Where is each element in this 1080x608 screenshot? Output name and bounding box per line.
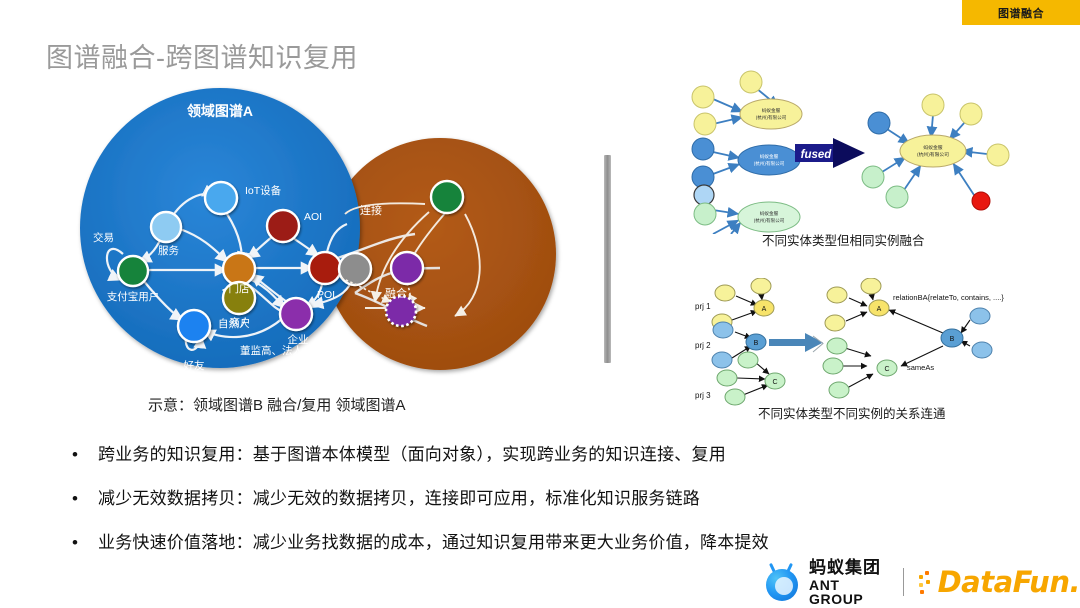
corner-badge-label: 图谱融合 (998, 5, 1044, 21)
node-service[interactable] (151, 212, 181, 242)
bullet-list: • 跨业务的知识复用：基于图谱本体模型（面向对象），实现跨业务的知识连接、复用 … (68, 442, 1028, 574)
right-bottom-svg: A B C prj 1 prj 2 prj 3 (665, 278, 1065, 406)
rt-entity-green[interactable] (738, 202, 800, 232)
right-bottom-caption: 不同实体类型不同实例的关系连通 (758, 403, 946, 422)
bullet-item-1: • 跨业务的知识复用：基于图谱本体模型（面向对象），实现跨业务的知识连接、复用 (68, 442, 1028, 467)
label-alipay-user: 支付宝用户 (107, 290, 160, 303)
bullet-marker: • (68, 442, 98, 467)
footer-logos: 蚂蚁集团 ANT GROUP DataFun. (763, 561, 1080, 603)
bullet-marker: • (68, 530, 98, 555)
node-poi[interactable] (309, 252, 341, 284)
corner-badge: 图谱融合 (962, 0, 1080, 25)
rt-yellow-line2: (杭州)有限公司 (756, 114, 787, 121)
rt-fused-arrow: fused (795, 138, 865, 168)
right-top-diagram: 蚂蚁金服 (杭州)有限公司 蚂蚁金服 (杭州)有限公司 蚂蚁金服 (杭州)有限公… (665, 62, 1065, 234)
rb-label-b: B (754, 340, 759, 347)
right-top-caption: 不同实体类型但相同实例融合 (762, 230, 925, 249)
rt-fused-label: fused (801, 149, 833, 161)
main-diagram-svg: 领域图谱A IoT设备 服务 AOI 门店 POI 交易 支付宝用户 商户 企业… (55, 86, 575, 386)
ant-group-cn: 蚂蚁集团 (809, 559, 885, 576)
rt-yellow-line1: 蚂蚁金服 (762, 107, 781, 114)
node-iot[interactable] (205, 182, 237, 214)
rb-prj-3: prj 3 (695, 391, 711, 400)
right-top-svg: 蚂蚁金服 (杭州)有限公司 蚂蚁金服 (杭州)有限公司 蚂蚁金服 (杭州)有限公… (665, 62, 1065, 234)
label-poi: POI (317, 289, 335, 301)
node-b-purple[interactable] (391, 252, 423, 284)
node-b-green[interactable] (431, 181, 463, 213)
label-domain-graph-a: 领域图谱A (187, 103, 253, 119)
ant-group-en: ANT GROUP (809, 578, 885, 606)
ant-group-wordmark: 蚂蚁集团 ANT GROUP (809, 559, 885, 606)
rt-fused-entity[interactable] (900, 135, 966, 167)
ant-group-logo-icon (763, 563, 801, 601)
rb-label-c: C (772, 379, 777, 386)
rb-project-labels: prj 1 prj 2 prj 3 (695, 302, 711, 400)
main-diagram-caption: 示意：领域图谱B 融合/复用 领域图谱A (148, 394, 406, 415)
rt-blue-line2: (杭州)有限公司 (754, 160, 785, 167)
rt-entity-blue[interactable] (738, 145, 800, 175)
bullet-item-2: • 减少无效数据拷贝：减少无效的数据拷贝，连接即可应用，标准化知识服务链路 (68, 486, 1028, 511)
rt-right-nodes (862, 94, 1009, 210)
rt-entity-yellow[interactable] (740, 99, 802, 129)
slide-root: 图谱融合 图谱融合-跨图谱知识复用 (0, 0, 1080, 608)
logo-separator (903, 568, 904, 596)
label-store: 门店 (229, 282, 250, 295)
node-b-fused[interactable] (386, 296, 416, 326)
rt-blue-line1: 蚂蚁金服 (760, 153, 779, 160)
page-title: 图谱融合-跨图谱知识复用 (46, 36, 358, 75)
rb-label-a: A (762, 306, 767, 313)
bullet-text-3: 业务快速价值落地：减少业务找数据的成本，通过知识复用带来更大业务价值，降本提效 (98, 530, 769, 555)
rt-left-nodes (692, 71, 802, 232)
rb-label-a2: A (877, 306, 882, 313)
rt-green-line1: 蚂蚁金服 (760, 210, 779, 217)
node-aoi[interactable] (267, 210, 299, 242)
bullet-marker: • (68, 486, 98, 511)
label-domain-graph-b: 领域图谱B (414, 101, 478, 117)
label-friend: 好友 (184, 359, 205, 372)
label-service: 服务 (158, 244, 179, 257)
node-store[interactable] (223, 253, 255, 285)
rb-transform-arrow (769, 333, 823, 352)
rb-prj-1: prj 1 (695, 302, 711, 311)
datafun-wordmark: DataFun. (938, 568, 1080, 597)
rb-label-c2: C (884, 366, 889, 373)
label-connect: 连接 (360, 204, 382, 217)
rb-prj-2: prj 2 (695, 341, 711, 350)
rt-fused-line1: 蚂蚁金服 (923, 144, 942, 151)
rb-relation-label: relationBA{relateTo, contains, ....} (893, 293, 1004, 302)
label-iot: IoT设备 (245, 184, 282, 197)
bullet-text-1: 跨业务的知识复用：基于图谱本体模型（面向对象），实现跨业务的知识连接、复用 (98, 442, 726, 467)
rt-fused-line2: (杭州)有限公司 (917, 151, 949, 158)
rb-sameas-label: sameAs (907, 363, 934, 372)
vertical-divider (604, 155, 611, 363)
node-natural-person[interactable] (178, 310, 210, 342)
bullet-text-2: 减少无效数据拷贝：减少无效的数据拷贝，连接即可应用，标准化知识服务链路 (98, 486, 700, 511)
rb-label-b2: B (950, 336, 955, 343)
datafun-dots-icon (919, 571, 937, 593)
rt-green-line2: (杭州)有限公司 (754, 217, 785, 224)
label-trade: 交易 (93, 231, 114, 244)
label-aoi: AOI (304, 211, 322, 223)
label-exec: 董监高、法人 (240, 344, 303, 357)
main-diagram: 领域图谱A IoT设备 服务 AOI 门店 POI 交易 支付宝用户 商户 企业… (55, 86, 575, 386)
node-company[interactable] (280, 298, 312, 330)
bullet-item-3: • 业务快速价值落地：减少业务找数据的成本，通过知识复用带来更大业务价值，降本提… (68, 530, 1028, 555)
label-natural-person: 自然人 (218, 317, 250, 330)
node-alipay-user[interactable] (118, 256, 148, 286)
node-grey[interactable] (339, 253, 371, 285)
label-fuse: 融合 (385, 286, 407, 300)
right-bottom-diagram: A B C prj 1 prj 2 prj 3 (665, 278, 1065, 406)
